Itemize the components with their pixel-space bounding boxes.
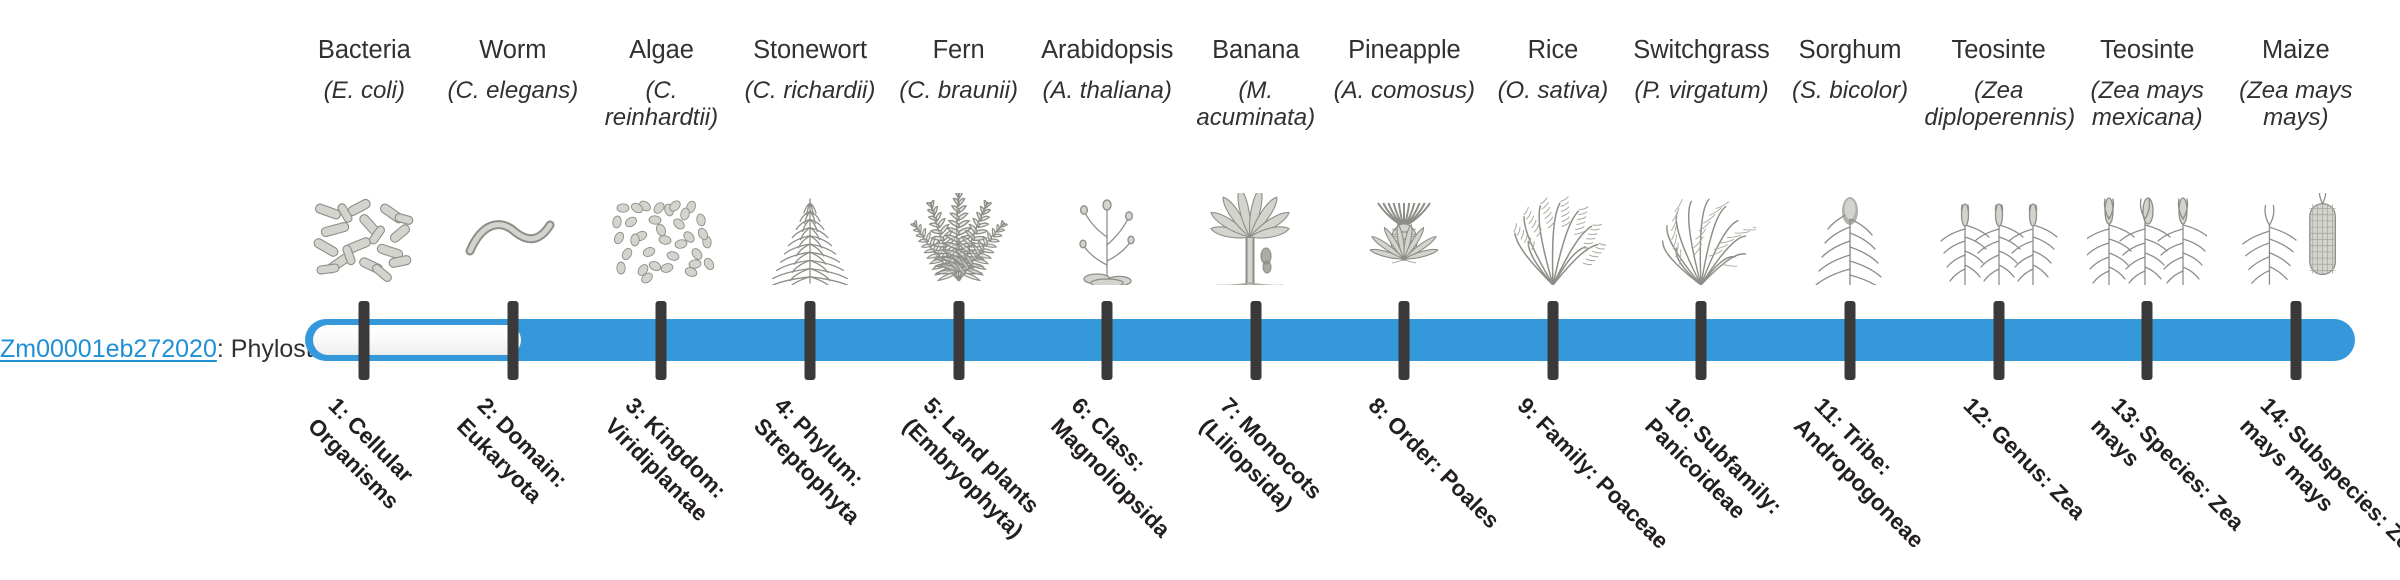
phylostratum-timeline: Zm00001eb272020: Phylostratum 2 Bacteria… bbox=[0, 0, 2400, 580]
rank-label-group: 1: Cellular Organisms2: Domain: Eukaryot… bbox=[0, 0, 2400, 580]
